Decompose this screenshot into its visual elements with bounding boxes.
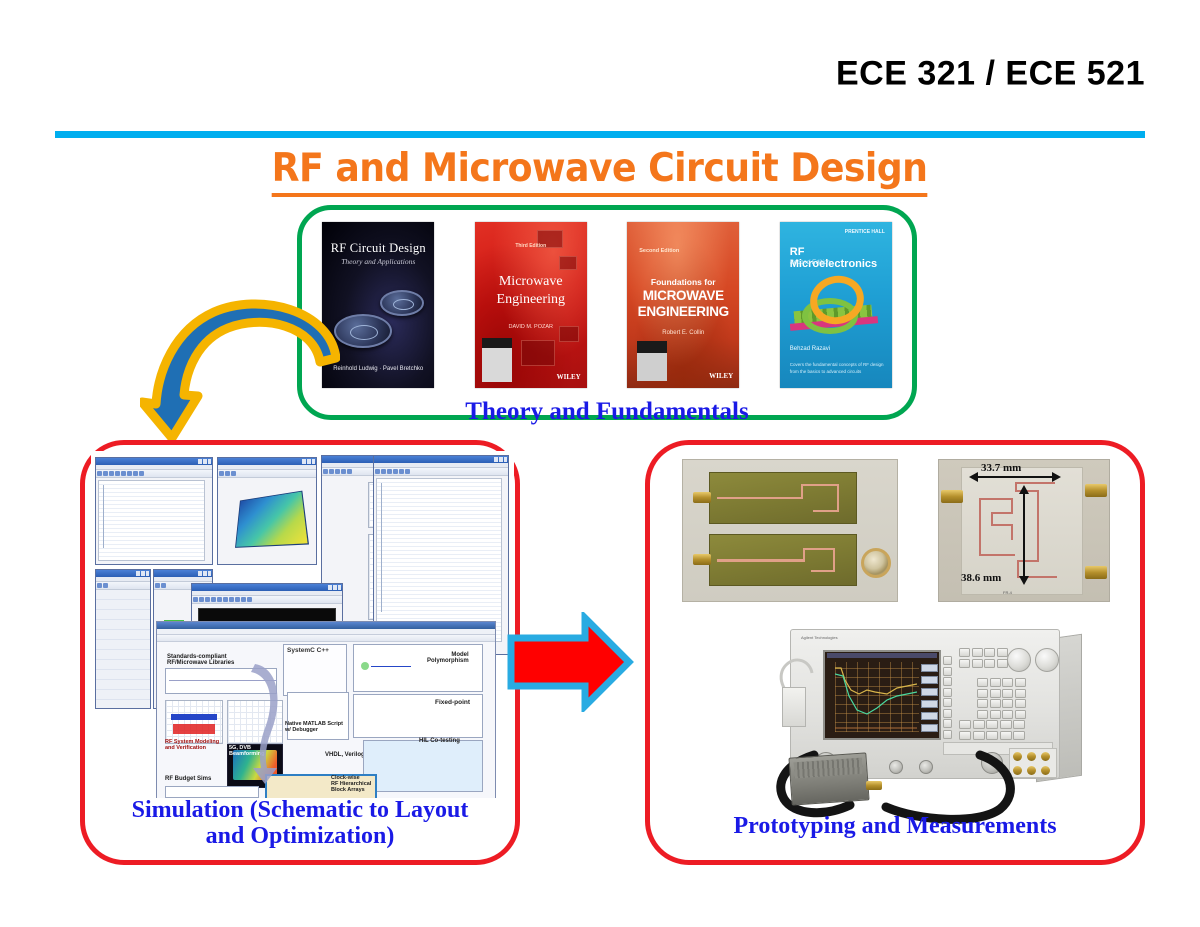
sim-label-5: Native MATLAB Script w/ Debugger xyxy=(285,722,343,734)
sim-label-2: Model Polymorphism xyxy=(427,652,469,665)
sma-connector-right-top xyxy=(1085,484,1107,497)
prototyping-panel: 33.7 mm 38.6 mm FR-4 Agilent Technologie… xyxy=(645,440,1145,865)
disc-graphic-2 xyxy=(380,290,424,316)
cover-texture-2 xyxy=(559,256,577,270)
header-divider-rule xyxy=(55,131,1145,138)
book2-edition: Third Edition xyxy=(475,244,587,249)
sim-label-0: Standards-compliant RF/Microwave Librari… xyxy=(167,654,234,667)
book2-title-line2: Engineering xyxy=(475,292,587,307)
sim-label-8: HIL Co-testing xyxy=(419,738,460,744)
book1-subtitle: Theory and Applications xyxy=(322,258,434,266)
coin-scale-reference xyxy=(861,548,891,578)
book2-publisher: WILEY xyxy=(557,373,581,381)
book2-author: DAVID M. POZAR xyxy=(475,325,587,331)
eda-window-3d-field xyxy=(217,457,317,565)
dim-horizontal-text: 33.7 mm xyxy=(981,462,1021,474)
book-cover-foundations-microwave-engineering: Second Edition Foundations for MICROWAVE… xyxy=(627,222,739,388)
microstrip-boards-photo xyxy=(682,459,898,602)
book4-publisher: PRENTICE HALL xyxy=(845,229,885,235)
book3-title-line3: ENGINEERING xyxy=(627,305,739,320)
prototyping-panel-caption: Prototyping and Measurements xyxy=(650,813,1140,839)
calibration-module xyxy=(782,687,806,727)
book4-title: RF Microelectronics xyxy=(780,247,892,271)
vector-network-analyzer: Agilent Technologies xyxy=(768,615,1098,830)
eda-window-layout-list xyxy=(95,569,151,709)
board-marking-text: FR-4 xyxy=(1003,590,1012,595)
page-title-text: RF and Microwave Circuit Design xyxy=(272,148,928,197)
book4-blurb: Covers the fundamental concepts of RF de… xyxy=(780,362,892,376)
dut-sma-connector xyxy=(866,781,882,790)
sim-label-3: RF System Modeling and Verification xyxy=(165,740,219,752)
book2-barcode xyxy=(482,338,512,382)
course-code-text: ECE 321 / ECE 521 xyxy=(836,55,1145,94)
books-to-simulation-arrow xyxy=(140,296,340,446)
sim-label-6: Fixed-point xyxy=(435,700,470,707)
sma-connector-2 xyxy=(693,554,711,565)
dim-v-arrowheads xyxy=(1018,485,1030,585)
book-cover-rf-microelectronics: PRENTICE HALL RF Microelectronics Second… xyxy=(780,222,892,388)
book3-author: Robert E. Collin xyxy=(627,330,739,336)
systemvue-flow-arrow xyxy=(249,662,289,786)
simulation-panel-caption: Simulation (Schematic to Layout and Opti… xyxy=(85,797,515,850)
eda-software-collage: Standards-compliant RF/Microwave Librari… xyxy=(91,451,514,798)
book-cover-microwave-engineering: Third Edition Microwave Engineering DAVI… xyxy=(475,222,587,388)
sim-label-9: RF Budget Sims xyxy=(165,776,211,782)
book2-title-line1: Microwave xyxy=(475,274,587,289)
book4-edition: Second Edition xyxy=(780,260,892,266)
book3-publisher: WILEY xyxy=(709,372,733,380)
book4-author: Behzad Razavi xyxy=(780,346,892,352)
page-title: RF and Microwave Circuit Design xyxy=(0,148,1200,197)
sim-label-10: Clock-wise RF Hierarchical Block Arrays xyxy=(331,776,371,793)
book3-title-line1: Foundations for xyxy=(627,278,739,287)
book-covers-row: RF Circuit Design Theory and Application… xyxy=(302,222,912,394)
disc-graphic-1 xyxy=(334,314,392,348)
dim-vertical-text: 38.6 mm xyxy=(961,572,1001,584)
sim-label-1b: SystemC C++ xyxy=(287,648,329,655)
dimensioned-filter-photo: 33.7 mm 38.6 mm FR-4 xyxy=(938,459,1110,602)
device-under-test xyxy=(788,752,869,805)
sma-connector-right-bottom xyxy=(1085,566,1107,579)
sma-connector-left xyxy=(941,490,963,503)
sim-to-proto-arrow xyxy=(505,612,635,712)
book3-edition: Second Edition xyxy=(627,249,739,255)
theory-and-fundamentals-panel: RF Circuit Design Theory and Application… xyxy=(297,205,917,420)
cover-texture-3 xyxy=(521,340,555,366)
slide-header: ECE 321 / ECE 521 xyxy=(0,0,1200,140)
book3-barcode xyxy=(637,341,667,381)
sma-connector-1 xyxy=(693,492,711,503)
sim-label-7: VHDL, Verilog xyxy=(325,752,365,758)
book3-title-line2: MICROWAVE xyxy=(627,289,739,304)
simulation-panel: Standards-compliant RF/Microwave Librari… xyxy=(80,440,520,865)
eda-window-project-tree xyxy=(95,457,213,565)
book1-title: RF Circuit Design xyxy=(322,242,434,256)
eda-window-systemvue: Standards-compliant RF/Microwave Librari… xyxy=(156,621,496,798)
theory-panel-caption: Theory and Fundamentals xyxy=(302,398,912,426)
